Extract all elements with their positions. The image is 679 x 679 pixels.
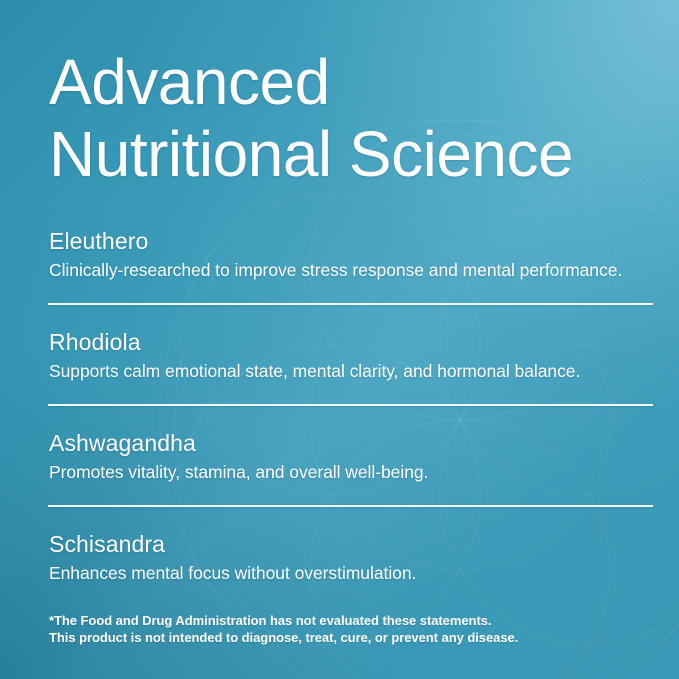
ingredient-item-ashwagandha: Ashwagandha Promotes vitality, stamina, … <box>48 430 653 507</box>
page-title-line-2: Nutritional Science <box>49 118 649 190</box>
fda-disclaimer: *The Food and Drug Administration has no… <box>49 612 629 646</box>
ingredient-description: Clinically-researched to improve stress … <box>49 259 653 281</box>
disclaimer-line-1: *The Food and Drug Administration has no… <box>49 612 629 629</box>
ingredient-name: Schisandra <box>49 531 653 558</box>
ingredient-list: Eleuthero Clinically-researched to impro… <box>48 228 653 584</box>
ingredient-item-schisandra: Schisandra Enhances mental focus without… <box>48 531 653 584</box>
disclaimer-line-2: This product is not intended to diagnose… <box>49 629 629 646</box>
ingredient-name: Rhodiola <box>49 329 653 356</box>
section-divider <box>48 505 653 507</box>
ingredient-description: Supports calm emotional state, mental cl… <box>49 360 653 382</box>
page-title: Advanced Nutritional Science <box>49 46 649 190</box>
ingredient-description: Enhances mental focus without overstimul… <box>49 562 653 584</box>
ingredient-name: Eleuthero <box>49 228 653 255</box>
ingredient-item-rhodiola: Rhodiola Supports calm emotional state, … <box>48 329 653 406</box>
product-info-card: Advanced Nutritional Science Eleuthero C… <box>0 0 679 679</box>
ingredient-name: Ashwagandha <box>49 430 653 457</box>
section-divider <box>48 404 653 406</box>
ingredient-description: Promotes vitality, stamina, and overall … <box>49 461 653 483</box>
section-divider <box>48 303 653 305</box>
page-title-line-1: Advanced <box>49 46 649 118</box>
ingredient-item-eleuthero: Eleuthero Clinically-researched to impro… <box>48 228 653 305</box>
